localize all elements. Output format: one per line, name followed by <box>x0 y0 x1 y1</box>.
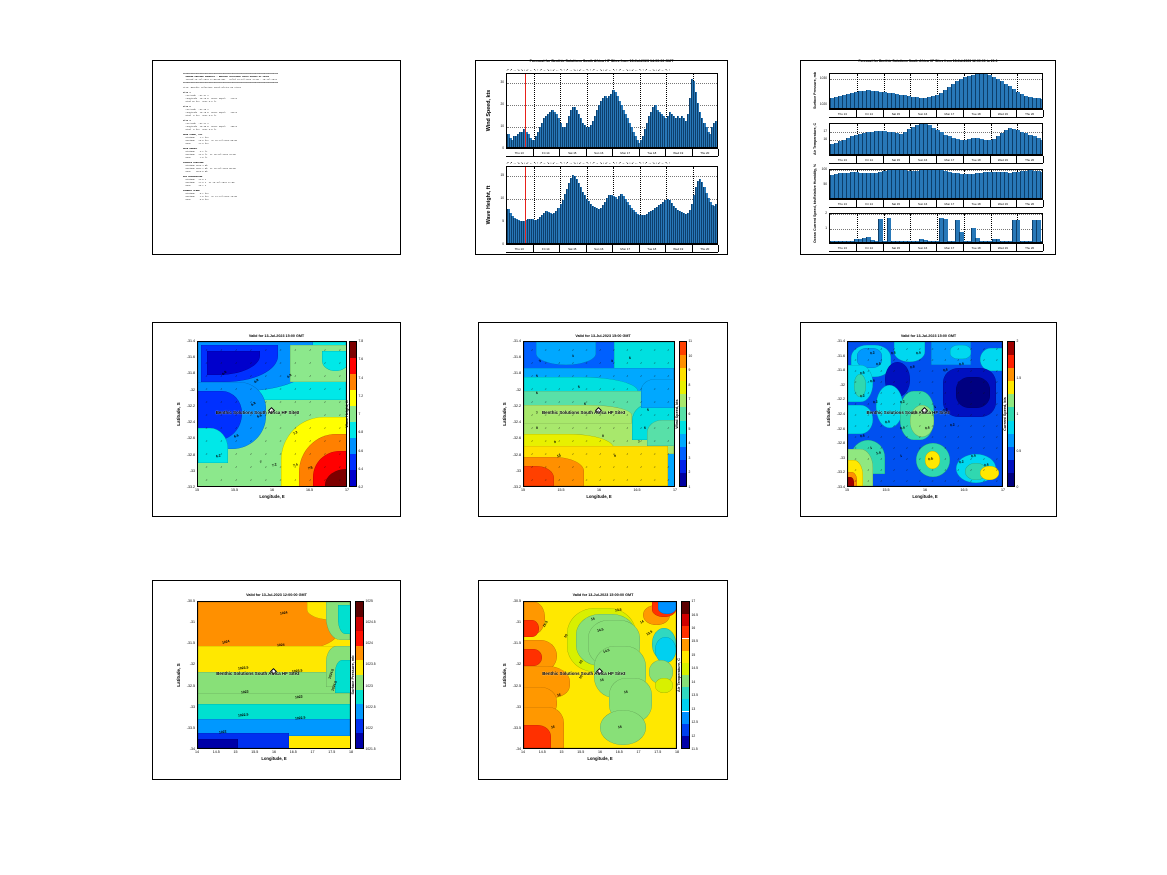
vector-arrow: ↗ <box>867 458 869 461</box>
x-tick-label: 17 <box>304 750 322 754</box>
vector-arrow: ↗ <box>599 479 601 482</box>
vector-arrow: ↗ <box>919 381 921 384</box>
vector-arrow: ↗ <box>626 362 628 365</box>
y-tick-label: -32 <box>507 388 521 392</box>
vector-arrow: ↗ <box>919 348 921 351</box>
vector-arrow: ↗ <box>324 427 326 430</box>
colorbar-segment <box>350 390 356 406</box>
contour-label: 5 <box>647 408 650 412</box>
y-tick-label: -33.2 <box>831 470 845 474</box>
vector-arrow: ↗ <box>250 440 252 443</box>
colorbar-tick-label: 6 <box>689 412 691 416</box>
vector-arrow: ↗ <box>205 427 207 430</box>
vector-arrow: ↗ <box>309 349 311 352</box>
vector-arrow: ↗ <box>854 447 856 450</box>
day-separator <box>991 214 992 242</box>
y-axis-label: Wave Height, ft <box>486 166 492 244</box>
vector-arrow: ↗ <box>880 447 882 450</box>
vector-arrow: ↗ <box>309 427 311 430</box>
vector-arrow: ↗ <box>854 403 856 406</box>
x-tick-label: 16.5 <box>628 488 646 492</box>
day-label: Sun 16 <box>909 244 937 251</box>
day-label: Mon 17 <box>936 200 964 207</box>
contour-map[interactable]: 345654676891089765↗↗↗↗↗↗↗↗↗↗↗↗↗↗↗↗↗↗↗↗↗↗… <box>523 341 675 487</box>
y-tick-label: -31.6 <box>831 354 845 358</box>
vector-arrow: ↗ <box>599 440 601 443</box>
vector-arrow: ↗ <box>944 425 946 428</box>
vector-arrow: ↗ <box>919 458 921 461</box>
day-separator <box>937 214 938 242</box>
vector-arrow: ↗ <box>880 436 882 439</box>
vector-arrow: ↗ <box>931 447 933 450</box>
vector-arrow: ↗ <box>220 388 222 391</box>
colorbar-segment <box>680 394 686 407</box>
colorbar-segment <box>356 660 363 675</box>
vector-arrow: ↗ <box>667 401 669 404</box>
contour-band <box>338 605 351 634</box>
vector-arrow: ↗ <box>531 401 533 404</box>
vector-arrow: ↗ <box>250 453 252 456</box>
contour-map[interactable]: 0.20.60.40.80.80.60.40.60.40.20.20.210.6… <box>847 341 1003 487</box>
vector-arrow: ↗ <box>654 453 656 456</box>
vector-arrow: ↗ <box>970 359 972 362</box>
vector-arrow: ↗ <box>931 480 933 483</box>
day-label: Mon 17 <box>936 110 964 117</box>
day-label: Wed 19 <box>990 244 1018 251</box>
y-tick-label: -33 <box>507 705 521 709</box>
vector-arrow: ↗ <box>893 370 895 373</box>
vector-arrow: ↗ <box>265 388 267 391</box>
vector-arrow: ↗ <box>893 392 895 395</box>
vector-arrow: ↗ <box>854 348 856 351</box>
vector-arrow: ↗ <box>294 479 296 482</box>
vector-arrow: ↗ <box>983 458 985 461</box>
y-tick-label: -34 <box>507 747 521 751</box>
vector-arrow: ↗ <box>906 447 908 450</box>
vector-arrow: ↗ <box>667 349 669 352</box>
y-axis-label: Latitude, S <box>826 341 831 487</box>
x-tick-label: 16 <box>263 488 281 492</box>
colorbar-segment <box>356 719 363 734</box>
colorbar-segment <box>1008 342 1014 355</box>
vector-arrow: ↗ <box>983 359 985 362</box>
x-tick-label: 17 <box>630 750 648 754</box>
vector-arrow: ↗ <box>654 427 656 430</box>
day-separator <box>910 214 911 242</box>
day-label: Sat 15 <box>559 245 587 252</box>
vector-arrow: ↗ <box>667 466 669 469</box>
day-label: Sat 15 <box>883 110 911 117</box>
x-tick-label: 15 <box>553 750 571 754</box>
colorbar-tick-label: 15 <box>692 653 696 657</box>
colorbar-segment <box>1008 473 1014 486</box>
colorbar-tick-label: 1 <box>1017 412 1019 416</box>
bar <box>1040 99 1043 109</box>
vector-arrow: ↗ <box>640 440 642 443</box>
vector-arrow: ↗ <box>893 469 895 472</box>
vector-arrow: ↗ <box>531 453 533 456</box>
contour-label: 0.2 <box>860 393 865 398</box>
vector-arrow: ↗ <box>906 381 908 384</box>
vector-arrow: ↗ <box>640 362 642 365</box>
x-axis-label: Longitude, E <box>847 494 1003 499</box>
vector-arrow: ↗ <box>265 440 267 443</box>
y-tick-label: -32.8 <box>831 441 845 445</box>
day-label: Thu 13 <box>829 156 857 163</box>
colorbar-title: Wave Height, ft <box>345 341 349 487</box>
vector-arrow: ↗ <box>996 436 998 439</box>
y-axis-label: Latitude, S <box>502 601 507 749</box>
vector-arrow: ↗ <box>205 375 207 378</box>
day-axis-strip: Thu 13Fri 14Sat 15Sun 16Mon 17Tue 18Wed … <box>829 109 1043 118</box>
vector-arrow: ↗ <box>294 453 296 456</box>
contour-band <box>655 678 673 693</box>
contour-map[interactable]: 6.66.96.86.96.46.677.26.66.277.27.47.6↗↗… <box>197 341 347 487</box>
vector-arrow: ↗ <box>970 392 972 395</box>
colorbar-segment <box>680 460 686 473</box>
vector-arrow: ↗ <box>585 375 587 378</box>
vector-arrow: ↗ <box>667 362 669 365</box>
colorbar-tick-label: 1022 <box>366 726 373 730</box>
day-label: Sun 16 <box>586 149 614 156</box>
vector-arrow: ↗ <box>613 427 615 430</box>
contour-band <box>647 420 675 446</box>
colorbar-segment <box>680 381 686 394</box>
colorbar-tick-label: 6.8 <box>359 430 364 434</box>
colorbar-segment <box>1008 355 1014 368</box>
vector-arrow: ↗ <box>544 479 546 482</box>
day-label: Tue 18 <box>639 149 667 156</box>
vector-arrow: ↗ <box>613 466 615 469</box>
vector-arrow: ↗ <box>220 401 222 404</box>
y-tick-label: -31.4 <box>181 339 195 343</box>
y-tick-label: 20 <box>494 102 504 106</box>
bar <box>1040 140 1043 154</box>
vector-arrow: ↗ <box>250 466 252 469</box>
y-tick-label: -31.4 <box>507 339 521 343</box>
colorbar-segment <box>356 690 363 705</box>
vector-arrow: ↗ <box>324 466 326 469</box>
vector-arrow: ↗ <box>309 388 311 391</box>
contour-label: 0.6 <box>983 463 988 468</box>
vector-arrow: ↗ <box>205 479 207 482</box>
x-tick-label: 14.5 <box>533 750 551 754</box>
vector-arrow: ↗ <box>983 414 985 417</box>
vector-arrow: ↗ <box>309 453 311 456</box>
y-tick-label: 1020 <box>817 102 827 106</box>
vector-arrow: ↗ <box>931 436 933 439</box>
x-tick-label: 16.5 <box>301 488 319 492</box>
vector-arrow: ↗ <box>558 453 560 456</box>
day-label: Fri 14 <box>856 244 884 251</box>
vector-arrow: ↗ <box>626 375 628 378</box>
colorbar-tick-label: 6.4 <box>359 467 364 471</box>
vector-arrow: ↗ <box>279 362 281 365</box>
y-tick-label: -32.4 <box>507 420 521 424</box>
day-label: Sat 15 <box>883 156 911 163</box>
y-tick-label: -32.2 <box>831 397 845 401</box>
vector-arrow: ↗ <box>970 469 972 472</box>
panel-text-report: ========================================… <box>152 60 401 255</box>
y-tick-label: -32.6 <box>507 436 521 440</box>
vector-arrow: ↗ <box>654 375 656 378</box>
vector-arrow: ↗ <box>667 440 669 443</box>
vector-arrow: ↗ <box>667 453 669 456</box>
vector-arrow: ↗ <box>996 414 998 417</box>
colorbar <box>1007 341 1015 487</box>
colorbar-tick-label: 1023 <box>366 684 373 688</box>
colorbar-segment <box>356 704 363 719</box>
day-label: Wed 19 <box>990 200 1018 207</box>
vector-arrow: ↗ <box>626 401 628 404</box>
vector-arrow: ↗ <box>279 440 281 443</box>
current-time-marker <box>525 167 526 243</box>
contour-band <box>641 379 675 408</box>
vector-arrow: ↗ <box>944 370 946 373</box>
colorbar-segment <box>1008 381 1014 394</box>
vector-arrow: ↗ <box>957 359 959 362</box>
chart-title: Forecast for Benthic Solutions South Afr… <box>801 59 1055 63</box>
vector-arrow: ↗ <box>640 401 642 404</box>
chart-title: Valid for 13-Jul-2023 12:00:00 GMT <box>153 593 400 597</box>
y-tick-label: -32.2 <box>181 404 195 408</box>
vector-arrow: ↗ <box>279 453 281 456</box>
vector-arrow: ↗ <box>893 480 895 483</box>
vector-arrow: ↗ <box>867 359 869 362</box>
vector-arrow: ↗ <box>324 414 326 417</box>
vector-arrow: ↗ <box>854 469 856 472</box>
vector-arrow: ↗ <box>854 414 856 417</box>
vector-arrow: ↗ <box>983 425 985 428</box>
x-axis-label: Longitude, E <box>197 756 351 761</box>
y-tick-label: 15 <box>494 173 504 177</box>
y-tick-label: -31.8 <box>507 371 521 375</box>
y-tick-label: -32.4 <box>831 412 845 416</box>
vector-arrow: ↗ <box>309 362 311 365</box>
vector-arrow: ↗ <box>667 414 669 417</box>
contour-map[interactable]: 1024102410241023.51023.5102310231022.510… <box>197 601 351 749</box>
vector-arrow: ↗ <box>867 348 869 351</box>
colorbar-tick-label: 12.5 <box>692 720 698 724</box>
vector-arrow: ↗ <box>585 453 587 456</box>
vector-arrow: ↗ <box>324 453 326 456</box>
contour-label: 8 <box>602 434 605 438</box>
colorbar-tick-label: 2 <box>1017 339 1019 343</box>
vector-arrow: ↗ <box>309 440 311 443</box>
vector-arrow: ↗ <box>906 359 908 362</box>
vector-arrow: ↗ <box>531 375 533 378</box>
colorbar-segment <box>350 470 356 486</box>
site-label: Benthic Solutions South Africa HF Site3 <box>216 671 299 676</box>
vector-arrow: ↗ <box>613 362 615 365</box>
colorbar-segment <box>680 355 686 368</box>
y-tick-label: -33.4 <box>831 485 845 489</box>
vector-arrow: ↗ <box>626 453 628 456</box>
colorbar-segment <box>680 368 686 381</box>
vector-arrow: ↗ <box>294 349 296 352</box>
contour-map[interactable]: 13.515.5151514.514.51413.515151615151615… <box>523 601 677 749</box>
colorbar <box>681 601 690 749</box>
chart-title: Valid for 13-Jul-2023 15:00 GMT <box>801 334 1056 338</box>
y-tick-label: -33 <box>181 705 195 709</box>
y-tick-label: 50 <box>817 182 827 186</box>
vector-arrow: ↗ <box>893 458 895 461</box>
vector-arrow: ↗ <box>220 453 222 456</box>
vector-arrow: ↗ <box>339 349 341 352</box>
day-label: Fri 14 <box>856 200 884 207</box>
vector-arrow: ↗ <box>279 388 281 391</box>
report-page: ========================================… <box>0 0 1167 875</box>
contour-band <box>980 466 998 480</box>
x-tick-label: 18 <box>342 750 360 754</box>
colorbar-tick-label: 13 <box>692 707 696 711</box>
plot-area-2 <box>829 169 1043 199</box>
y-tick-label: -33.5 <box>507 726 521 730</box>
day-separator <box>964 214 965 242</box>
vector-arrow: ↗ <box>220 375 222 378</box>
vector-arrow: ↗ <box>544 362 546 365</box>
colorbar <box>679 341 687 487</box>
y-tick-label: -32 <box>507 662 521 666</box>
vector-arrow: ↗ <box>585 479 587 482</box>
colorbar-segment <box>350 358 356 374</box>
colorbar-tick-label: 0.5 <box>1017 449 1022 453</box>
vector-arrow: ↗ <box>324 388 326 391</box>
vector-arrow: ↗ <box>265 427 267 430</box>
y-axis-label: Surface Pressure, mb <box>813 73 817 109</box>
vector-arrow: ↗ <box>970 447 972 450</box>
vector-arrow: ↗ <box>854 359 856 362</box>
colorbar-segment <box>1008 447 1014 460</box>
vector-arrow: ↗ <box>294 388 296 391</box>
day-label: Thu 20 <box>1016 244 1044 251</box>
vector-arrow: ↗ <box>339 466 341 469</box>
vector-arrow: ↗ <box>294 466 296 469</box>
vector-arrow: ↗ <box>996 425 998 428</box>
vector-arrow: ↗ <box>640 466 642 469</box>
vector-arrow: ↗ <box>970 403 972 406</box>
vector-arrow: ↗ <box>983 381 985 384</box>
colorbar-title: Surface Pressure, mb <box>351 601 355 749</box>
vector-arrow: ↗ <box>931 370 933 373</box>
vector-arrow: ↗ <box>544 375 546 378</box>
vector-arrow: ↗ <box>854 458 856 461</box>
vector-arrow: ↗ <box>667 427 669 430</box>
x-tick-label: 16.5 <box>610 750 628 754</box>
day-label: Thu 13 <box>506 245 534 252</box>
vector-arrow: ↗ <box>235 479 237 482</box>
day-label: Mon 17 <box>612 245 640 252</box>
day-label: Thu 20 <box>1016 200 1044 207</box>
day-label: Thu 20 <box>692 245 720 252</box>
y-tick-label: -32.2 <box>507 404 521 408</box>
vector-arrow: ↗ <box>531 349 533 352</box>
colorbar-segment <box>682 736 689 748</box>
contour-label: 13.5 <box>615 607 622 612</box>
day-label: Sun 16 <box>586 245 614 252</box>
vector-arrow: ↗ <box>558 440 560 443</box>
colorbar-segment <box>356 675 363 690</box>
y-tick-label: -32 <box>181 662 195 666</box>
vector-arrow: ↗ <box>854 370 856 373</box>
vector-arrow: ↗ <box>893 425 895 428</box>
x-tick-label: 16.5 <box>284 750 302 754</box>
colorbar-segment <box>680 434 686 447</box>
colorbar-segment <box>356 602 363 617</box>
colorbar-segment <box>356 733 363 748</box>
contour-label: 7 <box>260 460 263 464</box>
contour-label: 0.2 <box>869 350 874 355</box>
vector-arrow: ↗ <box>867 447 869 450</box>
vector-arrow: ↗ <box>544 466 546 469</box>
vector-arrow: ↗ <box>339 388 341 391</box>
y-axis-label: Ocean Current Speed, kts <box>813 213 817 243</box>
vector-arrow: ↗ <box>996 480 998 483</box>
colorbar-tick-label: 6.2 <box>359 485 364 489</box>
vector-arrow: ↗ <box>599 453 601 456</box>
y-tick-label: -32.5 <box>181 684 195 688</box>
y-tick-label: -33 <box>831 456 845 460</box>
vector-arrow: ↗ <box>654 401 656 404</box>
vector-arrow: ↗ <box>996 403 998 406</box>
colorbar-segment <box>356 646 363 661</box>
y-tick-label: -31.8 <box>831 368 845 372</box>
y-tick-label: 100 <box>817 167 827 171</box>
contour-band <box>322 351 347 371</box>
colorbar-title: Current Speed, kts <box>1003 341 1007 487</box>
colorbar-tick-label: 11 <box>689 339 692 343</box>
vector-arrow: ↗ <box>599 466 601 469</box>
vector-arrow: ↗ <box>220 427 222 430</box>
day-axis-strip: Thu 13Fri 14Sat 15Sun 16Mon 17Tue 18Wed … <box>829 155 1043 164</box>
vector-arrow: ↗ <box>944 348 946 351</box>
vector-arrow: ↗ <box>220 440 222 443</box>
day-label: Thu 13 <box>829 200 857 207</box>
day-separator <box>884 214 885 242</box>
vector-arrow: ↗ <box>626 466 628 469</box>
vector-arrow: ↗ <box>324 362 326 365</box>
chart-title: Forecast for Benthic Solutions South Afr… <box>476 59 727 63</box>
day-label: Mon 17 <box>936 156 964 163</box>
colorbar-segment <box>680 473 686 486</box>
vector-arrow: ↗ <box>279 401 281 404</box>
y-tick-label: -31.6 <box>181 355 195 359</box>
colorbar-segment <box>350 422 356 438</box>
vector-arrow: ↗ <box>880 370 882 373</box>
day-label: Wed 19 <box>665 245 693 252</box>
vector-arrow: ↗ <box>531 388 533 391</box>
vector-arrow: ↗ <box>667 375 669 378</box>
day-label: Wed 19 <box>665 149 693 156</box>
plot-area-1 <box>829 123 1043 155</box>
panel-wave-height-contour: Valid for 13-Jul-2023 15:00 GMT6.66.96.8… <box>152 322 401 517</box>
vector-arrow: ↗ <box>572 388 574 391</box>
colorbar-tick-label: 4 <box>689 441 691 445</box>
vector-arrow: ↗ <box>558 427 560 430</box>
colorbar-segment <box>1008 460 1014 473</box>
vector-arrow: ↗ <box>867 370 869 373</box>
colorbar-tick-label: 7.4 <box>359 376 364 380</box>
day-label: Sun 16 <box>909 200 937 207</box>
vector-arrow: ↗ <box>585 362 587 365</box>
vector-arrow: ↗ <box>919 392 921 395</box>
vector-arrow: ↗ <box>544 440 546 443</box>
vector-arrow: ↗ <box>944 392 946 395</box>
gridline <box>830 214 1042 215</box>
contour-label: 15 <box>590 616 595 621</box>
vector-arrow: ↗ <box>996 359 998 362</box>
site-label: Benthic Solutions South Africa HF Site3 <box>866 410 949 415</box>
